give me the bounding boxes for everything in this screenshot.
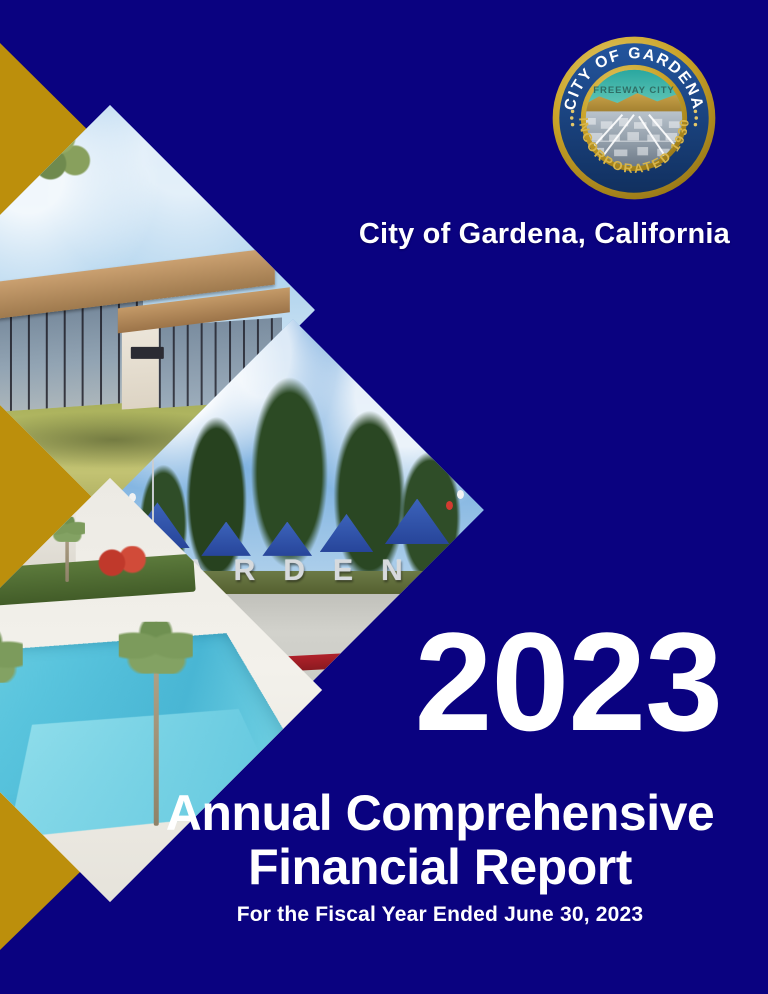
acfr-cover-page: G A R D E N A — [0, 0, 768, 994]
sign-letter: E — [333, 556, 354, 586]
city-subtitle: City of Gardena, California — [0, 218, 730, 251]
city-seal-icon: FREEWAY CITY CITY OF GARDENA INCORPORATE… — [551, 35, 717, 201]
report-title-line-2: Financial Report — [140, 840, 740, 894]
photo-mosaic: G A R D E N A — [0, 0, 500, 900]
flower-bed — [85, 546, 153, 580]
palm-fronds — [49, 517, 85, 542]
building-signage — [131, 347, 164, 359]
fiscal-year-display: 2023 — [0, 612, 722, 752]
sign-letter: N — [381, 556, 404, 586]
palm-tree-icon — [50, 517, 85, 582]
sign-letter: D — [283, 556, 306, 586]
sign-letter: A — [431, 556, 454, 586]
balloon-icon — [457, 490, 464, 499]
sign-letter: R — [234, 556, 257, 586]
seal-motto: FREEWAY CITY — [593, 85, 674, 96]
balloon-icon — [446, 501, 453, 510]
report-title-line-1: Annual Comprehensive — [140, 786, 740, 840]
tree-foliage-icon — [0, 113, 102, 195]
fiscal-period-subtitle: For the Fiscal Year Ended June 30, 2023 — [140, 903, 740, 927]
page-title: Annual Comprehensive Financial Report — [140, 786, 740, 894]
